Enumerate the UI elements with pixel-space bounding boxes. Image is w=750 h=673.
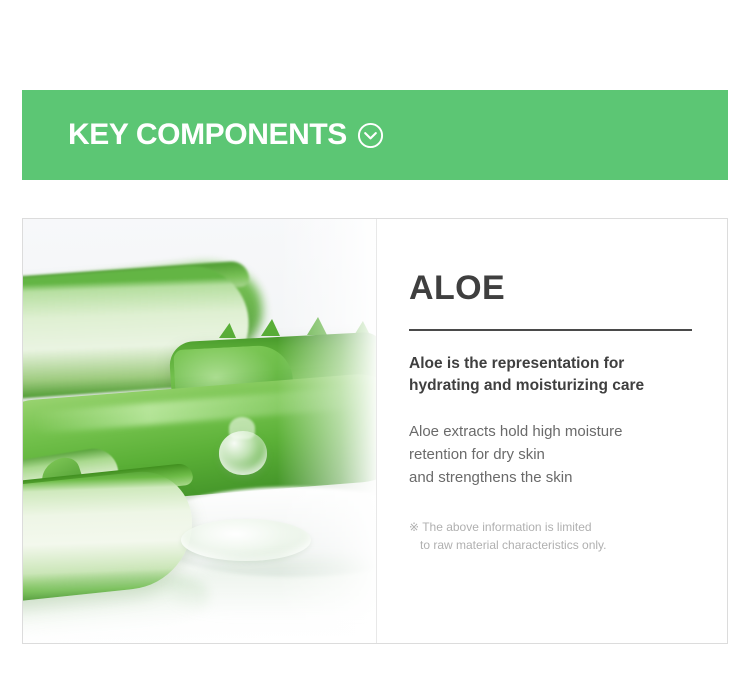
title-underline xyxy=(409,329,692,331)
chevron-down-circle-icon[interactable] xyxy=(357,122,384,149)
ingredient-lead-line-2: hydrating and moisturizing care xyxy=(409,377,644,394)
component-card: ALOE Aloe is the representation for hydr… xyxy=(22,218,728,644)
key-components-section: KEY COMPONENTS xyxy=(0,0,750,673)
ingredient-lead: Aloe is the representation for hydrating… xyxy=(409,353,727,398)
photo-edge-fade xyxy=(23,219,376,643)
panel-divider xyxy=(376,219,377,643)
banner-title: KEY COMPONENTS xyxy=(68,120,347,150)
ingredient-description-line-1: Aloe extracts hold high moisture xyxy=(409,423,622,440)
ingredient-disclaimer-line-2: to raw material characteristics only. xyxy=(409,536,727,554)
aloe-photo xyxy=(23,219,376,643)
ingredient-title: ALOE xyxy=(409,271,727,305)
reference-mark-icon: ※ xyxy=(409,520,419,534)
ingredient-description: Aloe extracts hold high moisture retenti… xyxy=(409,420,727,490)
component-info-panel: ALOE Aloe is the representation for hydr… xyxy=(376,219,727,643)
ingredient-lead-line-1: Aloe is the representation for xyxy=(409,355,624,372)
ingredient-disclaimer: ※ The above information is limited to ra… xyxy=(409,518,727,554)
ingredient-disclaimer-line-1: The above information is limited xyxy=(422,520,591,534)
ingredient-description-line-3: and strengthens the skin xyxy=(409,469,572,486)
key-components-banner[interactable]: KEY COMPONENTS xyxy=(22,90,728,180)
ingredient-description-line-2: retention for dry skin xyxy=(409,446,545,463)
